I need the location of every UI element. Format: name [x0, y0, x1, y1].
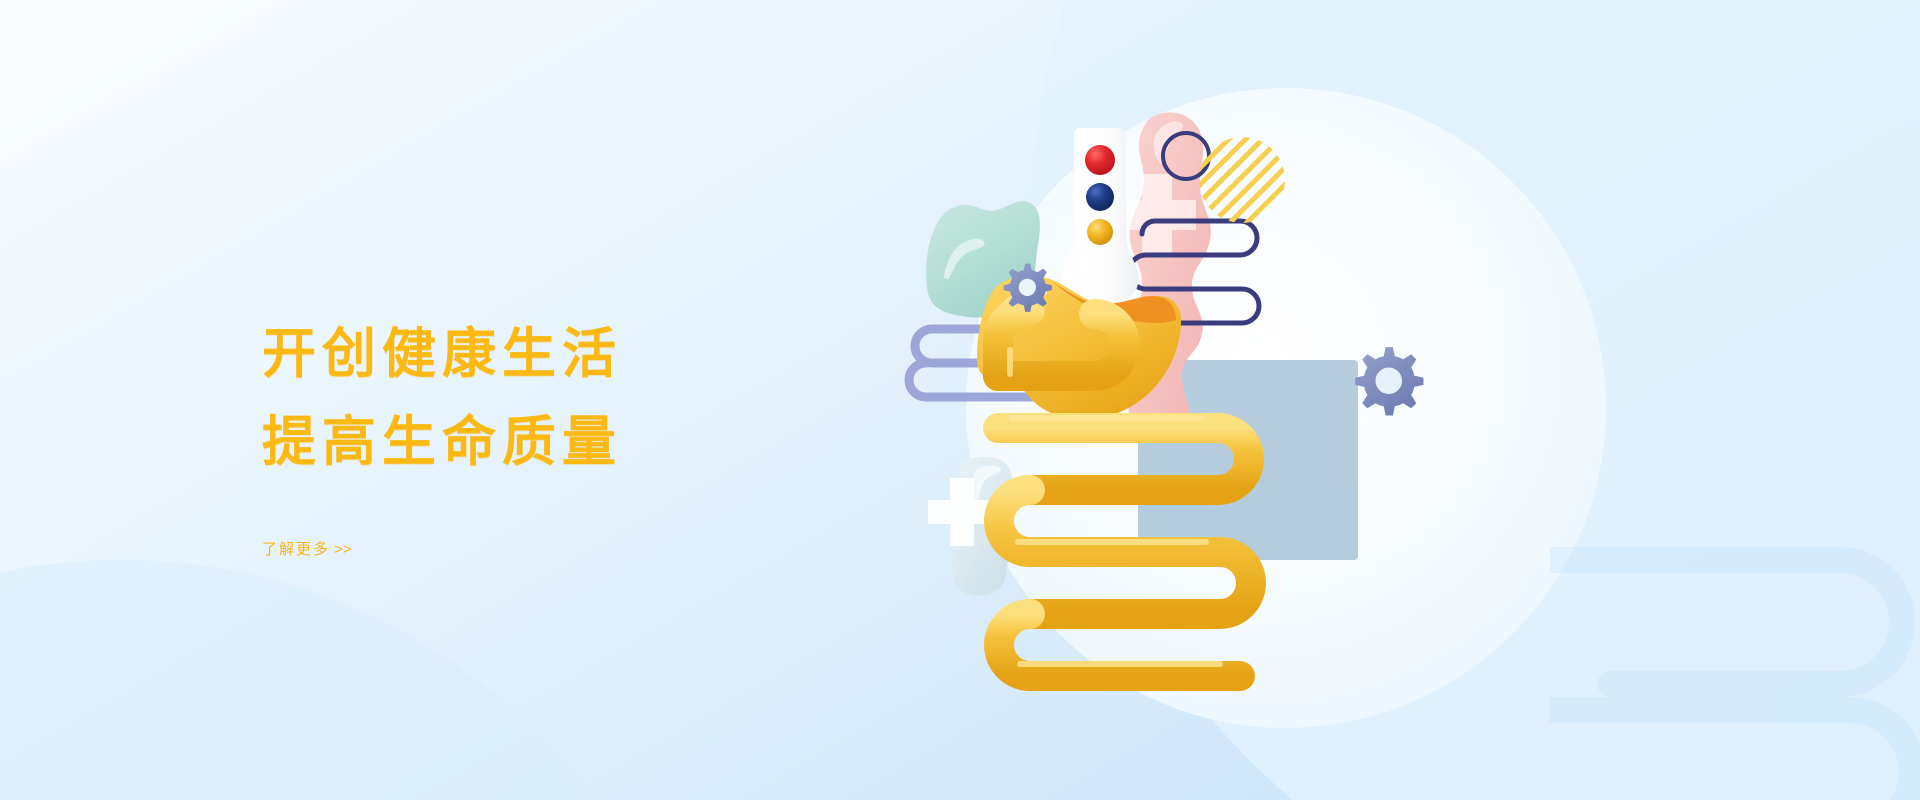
- gear-large-icon: [1355, 347, 1423, 415]
- headline-line-2: 提高生命质量: [262, 398, 882, 486]
- striped-circle: [1199, 137, 1285, 223]
- background-corner-blob: [0, 560, 710, 800]
- health-banner: 开创健康生活 提高生命质量 了解更多>>: [0, 0, 1920, 800]
- bead-red: [1085, 145, 1115, 175]
- learn-more-link[interactable]: 了解更多>>: [262, 538, 352, 559]
- hero-copy: 开创健康生活 提高生命质量 了解更多>>: [262, 310, 882, 559]
- gear-small-icon: [1004, 264, 1052, 312]
- headline-line-1: 开创健康生活: [262, 310, 882, 398]
- digestive-system-illustration: [880, 60, 1680, 760]
- bead-gold: [1087, 219, 1113, 245]
- chevron-right-icon: >>: [334, 541, 352, 558]
- bead-navy: [1086, 183, 1114, 211]
- learn-more-label: 了解更多: [262, 541, 330, 558]
